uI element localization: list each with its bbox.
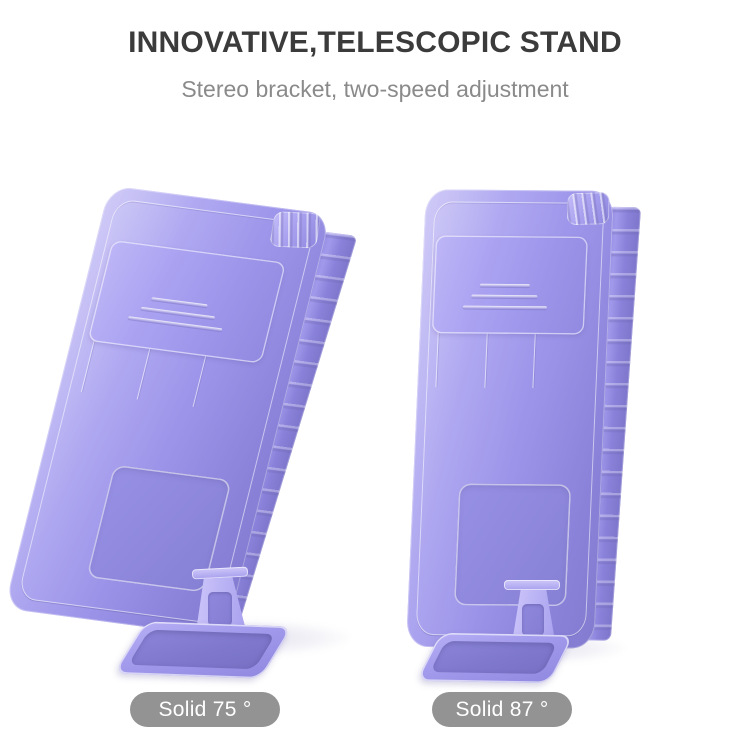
kickstand-hinge [504, 580, 560, 590]
grip-ridge [463, 306, 547, 310]
caption-label-right: Solid 87 ° [455, 698, 548, 722]
kickstand-base-flap[interactable] [114, 621, 293, 678]
caption-pill-right: Solid 87 ° [432, 692, 572, 727]
grip-ridge [471, 295, 537, 299]
corner-bumper-icon [567, 192, 609, 225]
flap-inner-panel [430, 641, 558, 674]
product-render-right [400, 180, 650, 680]
page-subtitle: Stereo bracket, two-speed adjustment [0, 76, 750, 103]
corner-bumper-icon [269, 211, 321, 248]
grip-ridge [480, 284, 530, 287]
caption-label-left: Solid 75 ° [158, 698, 251, 722]
kickstand-base-flap[interactable] [416, 633, 573, 683]
kickstand-arm-cutout [522, 604, 544, 636]
page-title: INNOVATIVE,TELESCOPIC STAND [0, 26, 750, 60]
grip-ridge [151, 297, 208, 307]
sliding-camera-cover[interactable] [432, 235, 588, 334]
bumper-ribs [567, 192, 609, 225]
marketing-image-canvas: INNOVATIVE,TELESCOPIC STAND Stereo brack… [0, 0, 750, 750]
grip-ridge [140, 307, 215, 320]
flap-inner-panel [128, 630, 276, 669]
kickstand-arm-cutout [208, 592, 232, 626]
bumper-ribs [269, 211, 321, 248]
caption-pill-left: Solid 75 ° [130, 692, 280, 727]
case-assembly [3, 178, 361, 647]
product-render-left [40, 180, 370, 680]
